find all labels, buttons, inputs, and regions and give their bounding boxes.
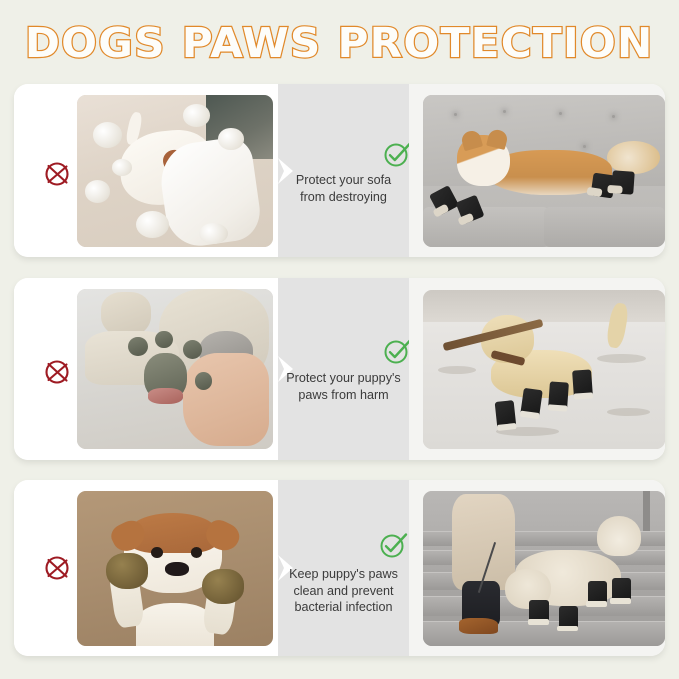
cross-circle-icon [41, 552, 73, 584]
benefit-panel-2: Protect your puppy's paws from harm [14, 278, 665, 460]
before-image-2 [77, 289, 273, 449]
message-line: paws from harm [283, 387, 405, 404]
message-line: clean and prevent [283, 583, 405, 600]
before-zone-1 [14, 84, 278, 257]
benefit-panel-1: Protect your sofa from destroying [14, 84, 665, 257]
message-text-2: Protect your puppy's paws from harm [283, 370, 405, 403]
message-line: Protect your sofa [283, 172, 405, 189]
message-line: from destroying [283, 189, 405, 206]
infographic-page: DOGS PAWS PROTECTION [0, 0, 679, 679]
message-text-1: Protect your sofa from destroying [283, 172, 405, 205]
message-zone-3: Keep puppy's paws clean and prevent bact… [278, 480, 409, 656]
check-circle-icon [382, 336, 412, 366]
message-line: bacterial infection [283, 599, 405, 616]
message-zone-1: Protect your sofa from destroying [278, 84, 409, 257]
benefit-panel-3: Keep puppy's paws clean and prevent bact… [14, 480, 665, 656]
cross-circle-icon [41, 356, 73, 388]
after-image-2 [423, 290, 665, 449]
message-line: Keep puppy's paws [283, 566, 405, 583]
before-image-3 [77, 491, 273, 646]
message-zone-2: Protect your puppy's paws from harm [278, 278, 409, 460]
message-line: Protect your puppy's [283, 370, 405, 387]
after-image-1 [423, 95, 665, 247]
before-image-1 [77, 95, 273, 247]
cross-circle-icon [41, 158, 73, 190]
page-title-area: DOGS PAWS PROTECTION [0, 17, 679, 69]
before-zone-3 [14, 480, 278, 656]
after-zone-3 [409, 480, 665, 656]
message-text-3: Keep puppy's paws clean and prevent bact… [283, 566, 405, 616]
before-zone-2 [14, 278, 278, 460]
check-circle-icon [378, 530, 408, 560]
after-zone-1 [409, 84, 665, 257]
after-image-3 [423, 491, 665, 646]
page-title: DOGS PAWS PROTECTION [25, 17, 654, 69]
check-circle-icon [382, 139, 412, 169]
after-zone-2 [409, 278, 665, 460]
